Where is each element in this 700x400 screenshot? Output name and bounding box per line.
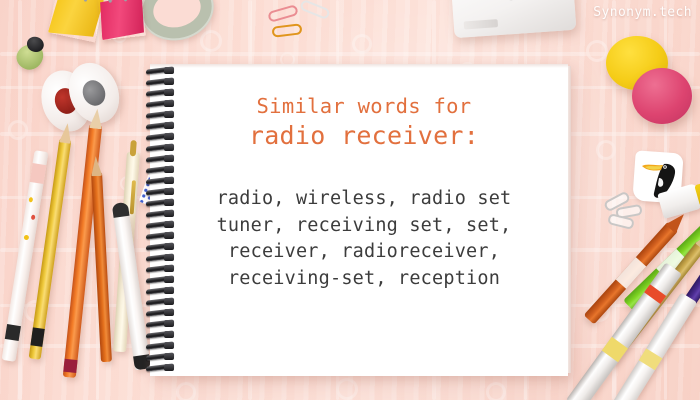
screenshot-canvas: Similar words for radio receiver: radio,…: [0, 0, 700, 400]
binder-clip-pink: [98, 0, 146, 40]
spiral-binding: [144, 66, 178, 374]
headline-term: radio receiver:: [178, 120, 550, 152]
site-watermark: Synonym.tech: [593, 5, 692, 20]
macaron-pink: [632, 68, 692, 124]
synonym-card-text: Similar words for radio receiver: radio,…: [178, 92, 550, 292]
synonym-line: receiver, radioreceiver,: [178, 239, 550, 266]
paperclip-cluster-silver: [604, 196, 650, 230]
synonym-list: radio, wireless, radio set tuner, receiv…: [178, 186, 550, 292]
synonym-line: receiving-set, reception: [178, 266, 550, 293]
headline-prefix: Similar words for: [178, 92, 550, 120]
camera-lens: [480, 0, 542, 2]
synonym-line: radio, wireless, radio set: [178, 186, 550, 213]
synonym-line: tuner, receiving set, set,: [178, 213, 550, 240]
